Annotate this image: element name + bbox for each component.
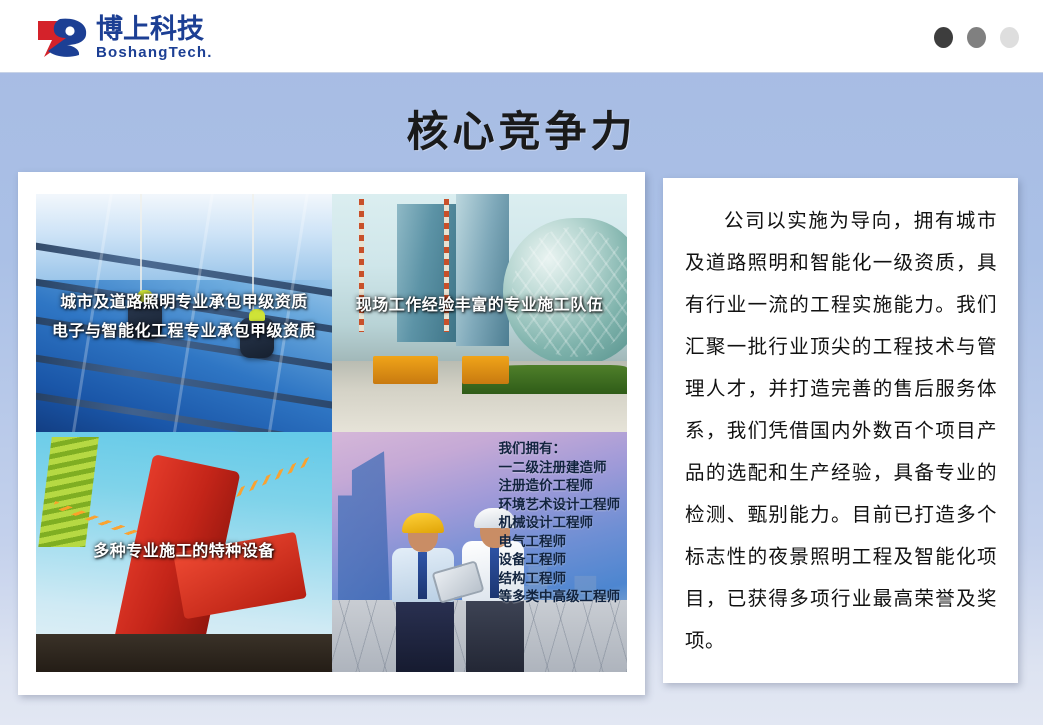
qualification-item: 电气工程师 [499,533,621,552]
qualification-item: 注册造价工程师 [499,477,621,496]
photo-glass-facade-rope-access[interactable]: 城市及道路照明专业承包甲级资质 电子与智能化工程专业承包甲级资质 [36,194,332,432]
qualification-item: 等多类中高级工程师 [499,588,621,607]
photo-caption-line-1: 现场工作经验丰富的专业施工队伍 [332,292,627,317]
qualifications-heading: 我们拥有： [499,440,621,459]
qualification-item: 设备工程师 [499,551,621,570]
photo-construction-site-team[interactable]: 现场工作经验丰富的专业施工队伍 [332,194,627,432]
window-dot-medium[interactable] [967,27,986,48]
photo-grid: 城市及道路照明专业承包甲级资质 电子与智能化工程专业承包甲级资质 现场工作经验丰… [36,194,627,672]
green-lattice-boom [38,437,99,547]
qualification-item: 环境艺术设计工程师 [499,496,621,515]
photo-caption-line-1: 城市及道路照明专业承包甲级资质 [36,289,332,314]
building-tower-b [456,194,509,346]
photo-engineers-team[interactable]: 我们拥有： 一二级注册建造师 注册造价工程师 环境艺术设计工程师 机械设计工程师… [332,432,627,672]
construction-machine [462,356,509,385]
window-dot-light[interactable] [1000,27,1019,48]
window-dot-dark[interactable] [934,27,953,48]
top-bar: 博上科技 BoshangTech. [0,0,1043,73]
photo-caption-line-1: 多种专业施工的特种设备 [36,538,332,563]
slide-page: 博上科技 BoshangTech. 核心竞争力 [0,0,1043,725]
engineer-tie [418,552,427,600]
photo-caption-line-2: 电子与智能化工程专业承包甲级资质 [36,318,332,343]
company-logo[interactable]: 博上科技 BoshangTech. [36,12,236,64]
window-controls[interactable] [934,27,1019,48]
boshang-logo-mark [36,16,90,60]
description-panel: 公司以实施为导向，拥有城市及道路照明和智能化一级资质，具有行业一流的工程实施能力… [663,178,1018,683]
qualifications-list: 我们拥有： 一二级注册建造师 注册造价工程师 环境艺术设计工程师 机械设计工程师… [499,440,621,607]
qualification-item: 一二级注册建造师 [499,459,621,478]
photo-panel: 城市及道路照明专业承包甲级资质 电子与智能化工程专业承包甲级资质 现场工作经验丰… [18,172,645,695]
logo-wordmark: 博上科技 BoshangTech. [96,16,213,61]
qualification-item: 机械设计工程师 [499,514,621,533]
logo-name-cn: 博上科技 [96,16,213,44]
engineer-legs [466,598,524,672]
logo-name-en: BoshangTech. [96,44,213,61]
site-ground [36,634,332,672]
page-title: 核心竞争力 [0,98,1043,159]
engineer-legs [396,599,454,672]
photo-special-equipment-lifts[interactable]: 多种专业施工的特种设备 [36,432,332,672]
yellow-hard-hat-icon [402,513,444,533]
description-text: 公司以实施为导向，拥有城市及道路照明和智能化一级资质，具有行业一流的工程实施能力… [685,200,997,662]
qualification-item: 结构工程师 [499,570,621,589]
construction-machine [373,356,438,385]
